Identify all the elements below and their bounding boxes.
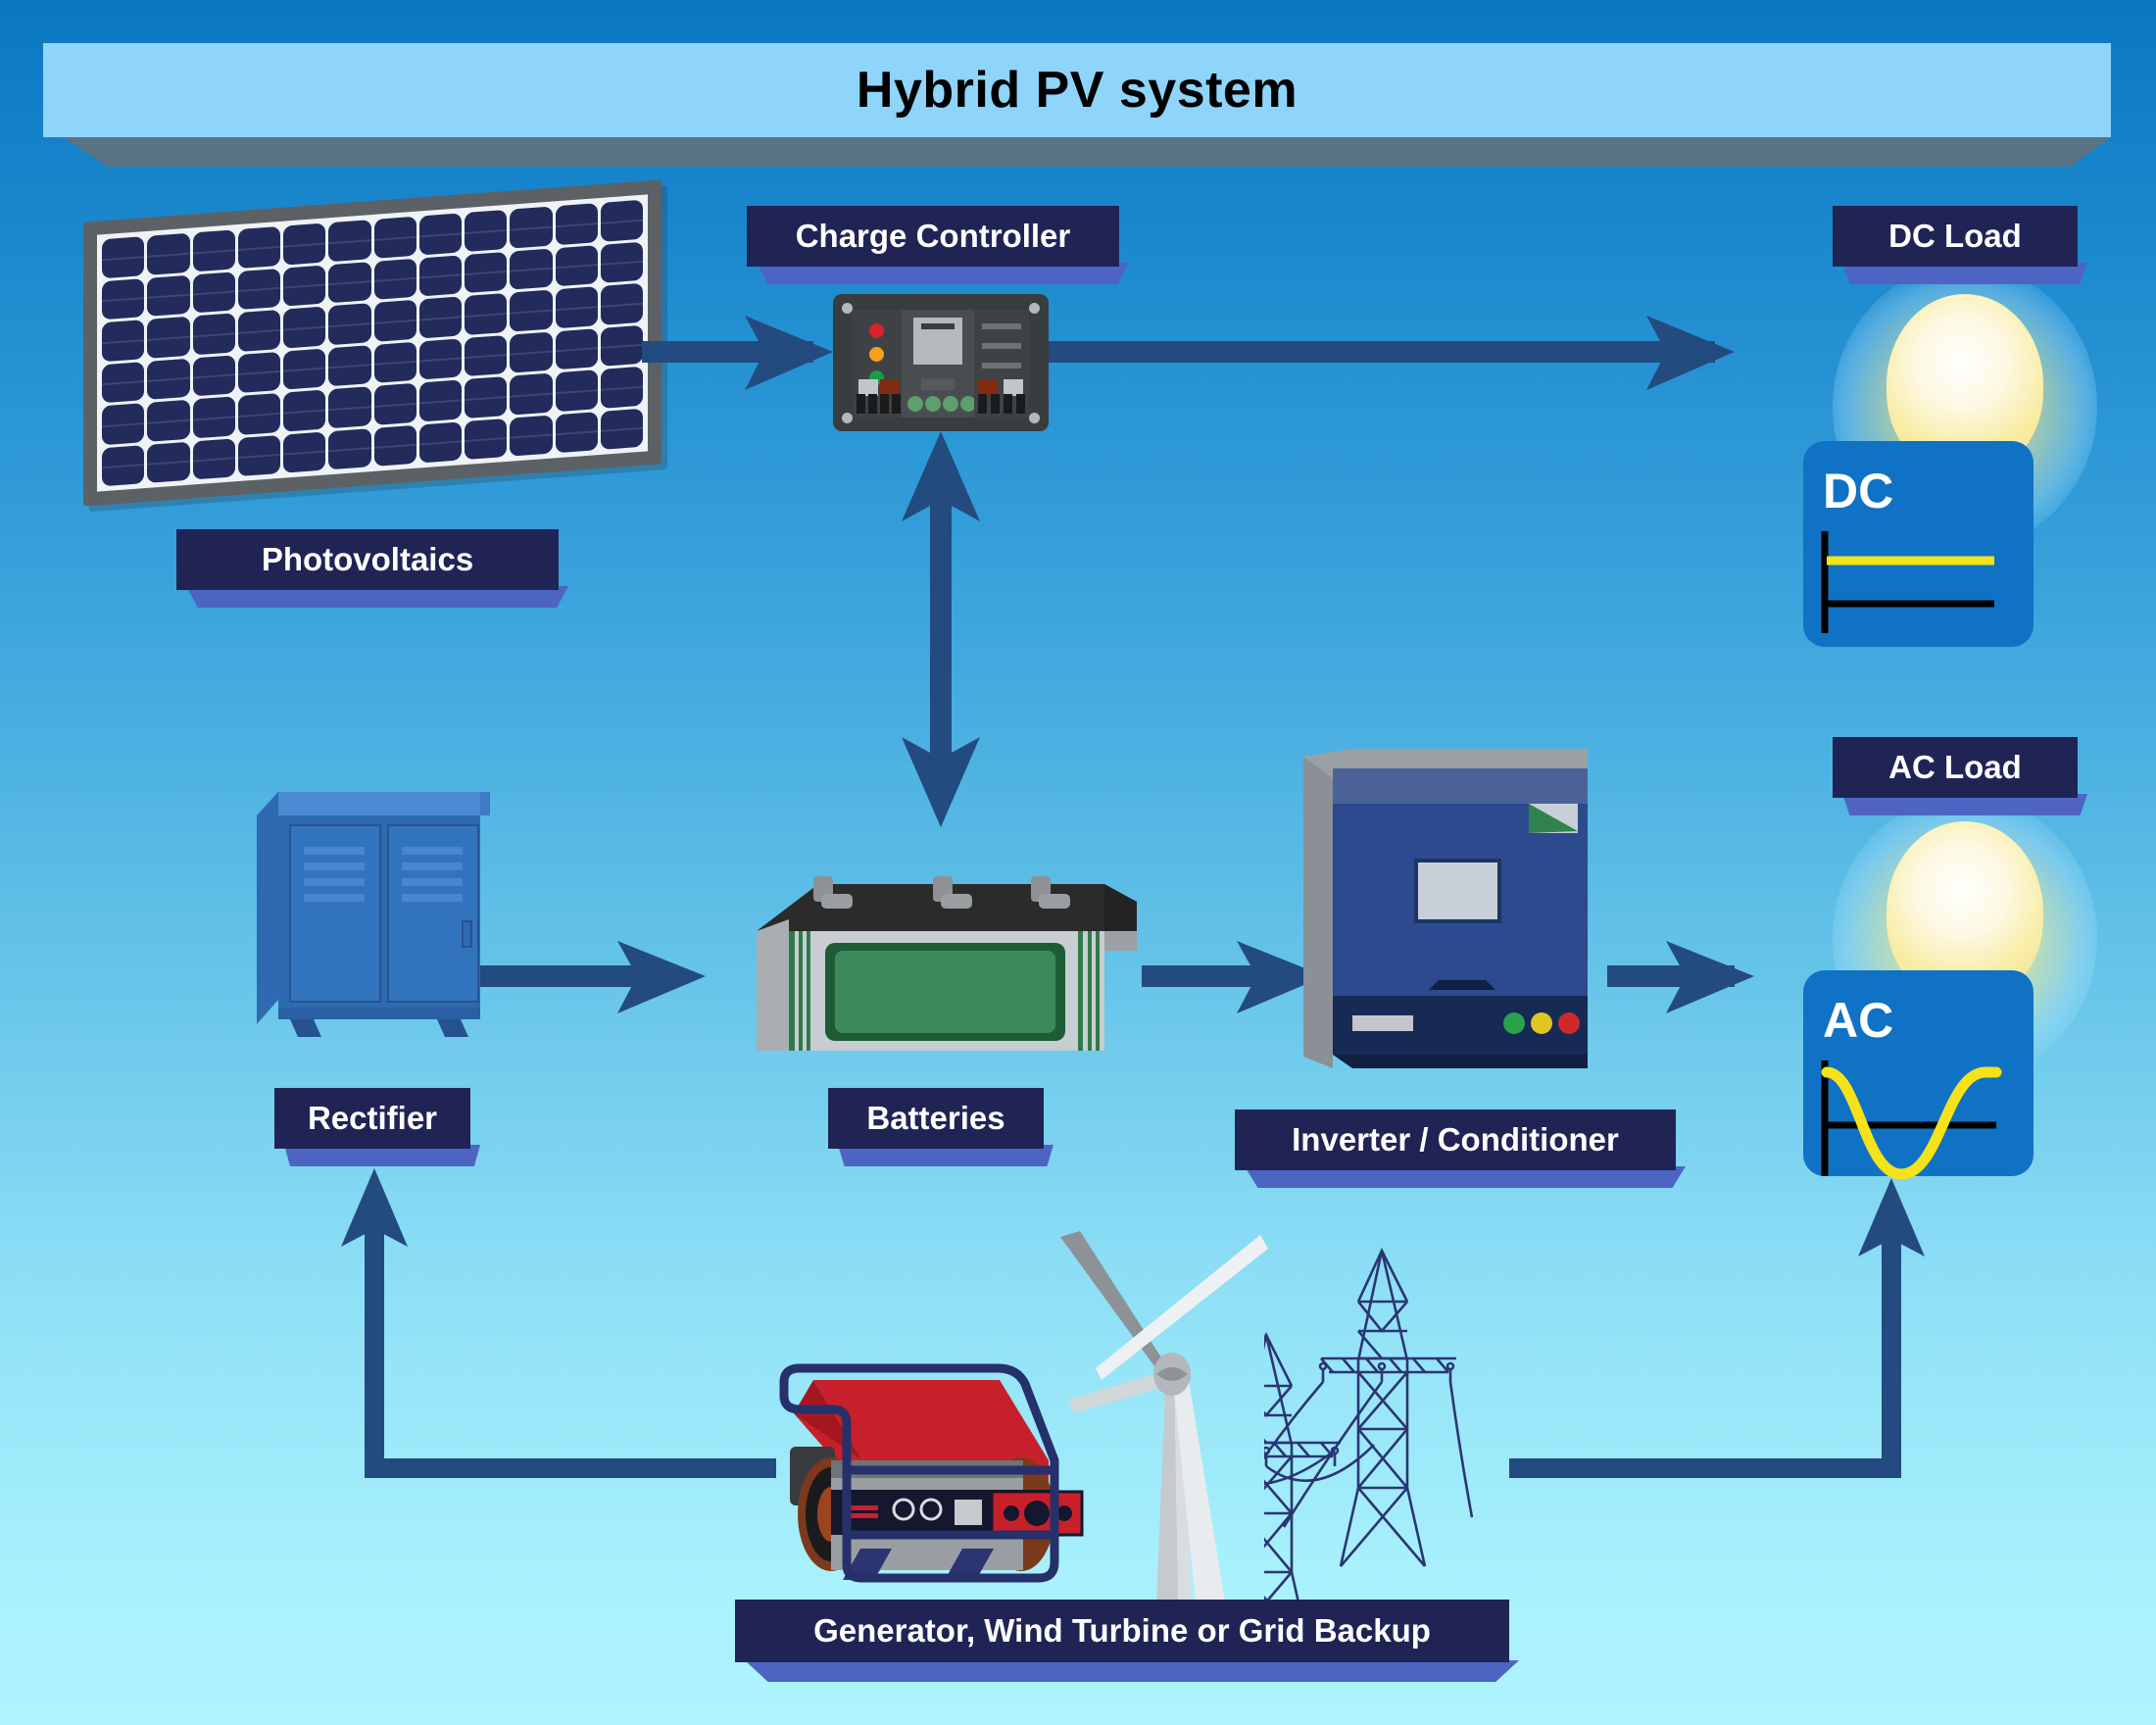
photovoltaics-label: Photovoltaics — [176, 529, 559, 590]
backup-to-rectifier-arrow-shaft-horizontal — [365, 1458, 776, 1478]
backup-to-rectifier-arrow-head — [341, 1168, 408, 1247]
title-banner-shadow — [63, 137, 2111, 167]
rectifier-to-batteries-arrow-head — [617, 941, 706, 1013]
rectifier-label: Rectifier — [274, 1088, 470, 1149]
dc-waveform-icon — [1803, 441, 2033, 647]
charge-controller-terminals — [974, 310, 1029, 418]
transmission-tower-icon — [1264, 1243, 1519, 1625]
backup-to-ac-load-arrow-shaft-horizontal — [1509, 1458, 1901, 1478]
charge-controller-display — [902, 310, 974, 418]
generator-icon — [755, 1362, 1088, 1607]
backup-label-shadow — [745, 1660, 1519, 1682]
ac-load-label: AC Load — [1833, 737, 2078, 798]
inverter-to-ac-load-arrow-head — [1666, 941, 1754, 1013]
charge-controller-led-panel — [853, 310, 902, 418]
charge-controller-icon — [833, 294, 1049, 431]
charge-controller-to-dc-load-arrow-shaft — [1049, 341, 1715, 363]
backup-to-rectifier-arrow-shaft-vertical — [365, 1215, 384, 1478]
inverter-label: Inverter / Conditioner — [1235, 1109, 1676, 1170]
wind-turbine-icon — [1058, 1225, 1274, 1607]
cabinet-icon — [245, 764, 490, 1059]
dc-load-label: DC Load — [1833, 206, 2078, 267]
ac-waveform-icon — [1803, 970, 2033, 1181]
charge-controller-batteries-arrow-head-down — [902, 737, 980, 827]
inverter-icon — [1294, 745, 1597, 1078]
page-title: Hybrid PV system — [43, 43, 2111, 137]
diagram-canvas: Hybrid PV system Photovoltaics Charge Co… — [0, 0, 2156, 1725]
charge-controller-to-dc-load-arrow-head — [1646, 316, 1735, 390]
battery-icon — [745, 862, 1137, 1078]
solar-panel-icon — [83, 179, 661, 506]
charge-controller-batteries-arrow-head-up — [902, 431, 980, 521]
backup-to-ac-load-arrow-shaft-vertical — [1882, 1225, 1901, 1478]
batteries-label: Batteries — [828, 1088, 1044, 1149]
backup-to-ac-load-arrow-head — [1858, 1178, 1925, 1257]
charge-controller-label: Charge Controller — [747, 206, 1119, 267]
solar-panel-cells — [97, 194, 648, 491]
backup-label: Generator, Wind Turbine or Grid Backup — [735, 1600, 1509, 1662]
pv-to-charge-controller-arrow-head — [745, 316, 833, 390]
